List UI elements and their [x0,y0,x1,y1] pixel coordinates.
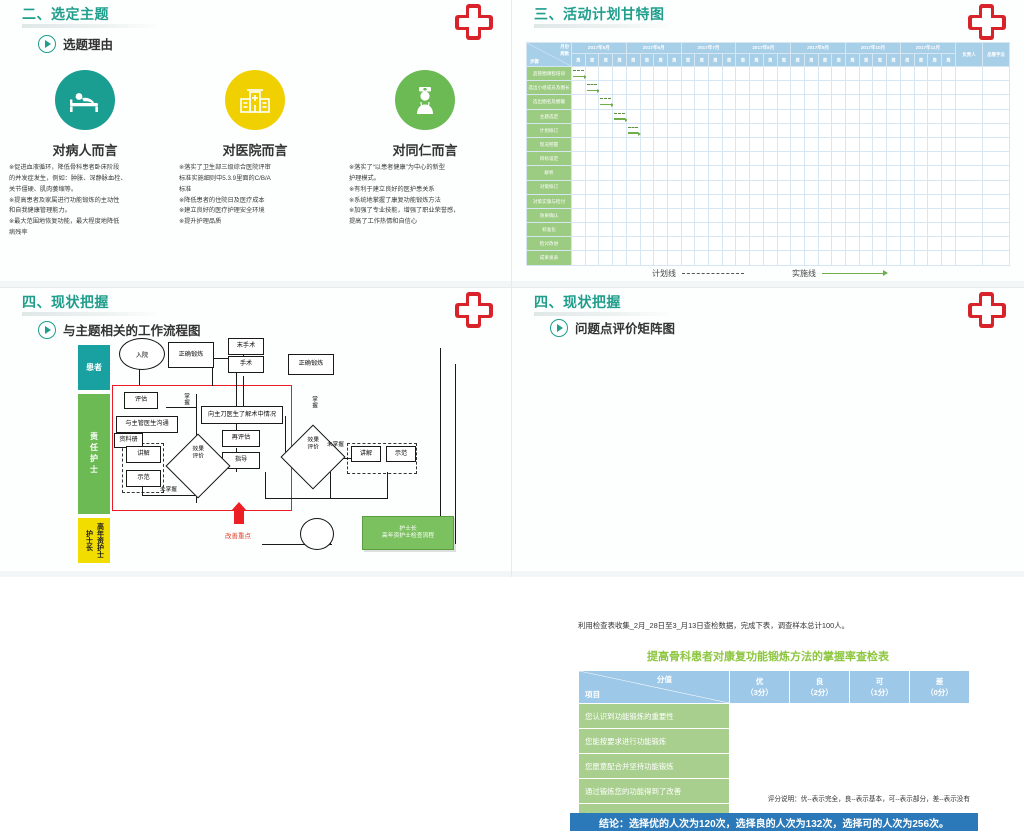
gantt-cell [736,109,750,123]
gantt-cell [585,223,599,237]
gantt-col-负责人: 负责人 [956,43,983,67]
gantt-cell [572,251,586,265]
gantt-cell [681,208,695,222]
gantt-cell [763,223,777,237]
gantt-week-header: 周 [818,54,832,67]
gantt-row: 成果发表 [527,251,1010,265]
gantt-cell [941,123,955,137]
matrix-cell[interactable] [850,704,910,729]
matrix-header-可: 可（1分） [850,671,910,704]
gantt-cell [736,67,750,81]
gantt-row: 目标设定 [527,152,1010,166]
gantt-cell [818,67,832,81]
gantt-week-header: 周 [887,54,901,67]
gantt-month-header: 2017年7月 [681,43,736,54]
gantt-cell [804,137,818,151]
gantt-cell [709,123,723,137]
gantt-legend: 计划线 实施线 [512,268,1024,279]
gantt-cell [640,123,654,137]
gantt-cell [777,123,791,137]
gantt-cell [900,223,914,237]
gantt-cell [750,180,764,194]
hospital-icon [225,70,285,130]
play-icon [38,35,56,53]
gantt-cell [585,81,599,95]
gantt-cell [654,81,668,95]
gantt-cell [887,123,901,137]
gantt-cell [914,180,928,194]
gantt-cell [941,223,955,237]
gantt-cell [709,81,723,95]
gantt-cell [626,152,640,166]
gantt-cell [873,251,887,265]
gantt-week-header: 周 [859,54,873,67]
gantt-cell [791,67,805,81]
slide-gantt: 三、活动计划甘特图 月份周数步骤2017年5月2017年6月2017年7月201… [512,0,1024,288]
gantt-cell [599,194,613,208]
nurse-icon [395,70,455,130]
gantt-cell [599,67,613,81]
matrix-subtitle: 利用检查表收集_2月_28日至3_月13日查检数据，完成下表，调查样本总计100… [578,620,849,631]
gantt-cell [777,137,791,151]
gantt-cell [941,251,955,265]
gantt-cell [791,95,805,109]
gantt-cell [859,237,873,251]
gantt-cell [640,109,654,123]
gantt-cell [585,137,599,151]
gantt-cell [941,95,955,109]
matrix-cell[interactable] [910,754,970,779]
gantt-cell [695,194,709,208]
gantt-cell [722,123,736,137]
gantt-cell [791,251,805,265]
gantt-method-cell [983,81,1010,95]
gantt-cell [941,180,955,194]
gantt-cell [736,152,750,166]
gantt-step-label: 检讨改进 [527,237,572,251]
gantt-cell [626,95,640,109]
gantt-cell [887,251,901,265]
gantt-cell [763,109,777,123]
gantt-row: 检讨改进 [527,237,1010,251]
gantt-cell [900,109,914,123]
gantt-cell [654,251,668,265]
gantt-cell [928,223,942,237]
bullet-reason: 选题理由 [38,34,113,53]
gantt-cell [613,180,627,194]
matrix-header-差: 差（0分） [910,671,970,704]
gantt-cell [887,223,901,237]
matrix-cell[interactable] [730,729,790,754]
gantt-month-header: 2017年6月 [626,43,681,54]
gantt-cell [804,81,818,95]
label-not-grasp-2: 未掌握 [327,440,344,448]
matrix-row: 您能按要求进行功能锻炼 [579,729,970,754]
gantt-cell [750,152,764,166]
gantt-month-header: 2017年9月 [791,43,846,54]
gantt-cell [818,81,832,95]
gantt-week-header: 周 [667,54,681,67]
matrix-cell[interactable] [850,754,910,779]
matrix-cell[interactable] [790,704,850,729]
gantt-step-label: 标准化 [527,223,572,237]
gantt-cell [736,194,750,208]
gantt-cell [613,81,627,95]
gantt-cell [928,194,942,208]
matrix-conclusion: 结论：选择优的人次为120次，选择良的人次为132次，选择可的人次为256次。 [570,813,978,831]
gantt-cell [859,67,873,81]
matrix-cell[interactable] [790,729,850,754]
gantt-cell [736,81,750,95]
gantt-cell [859,123,873,137]
gantt-cell [613,223,627,237]
gantt-cell [722,137,736,151]
gantt-cell [572,237,586,251]
gantt-cell [695,137,709,151]
gantt-step-label: 解析 [527,166,572,180]
gantt-cell [941,67,955,81]
gantt-cell [791,109,805,123]
gantt-cell [681,123,695,137]
gantt-cell [585,194,599,208]
gantt-cell [763,137,777,151]
gantt-cell [750,208,764,222]
gantt-cell [914,223,928,237]
gantt-cell [640,180,654,194]
gantt-cell [722,109,736,123]
gantt-cell [585,237,599,251]
gantt-cell [695,166,709,180]
connector [440,348,441,544]
gantt-cell [626,67,640,81]
gantt-cell [832,81,846,95]
reason-column-colleague: 对同仁而言 ※落实了“以患者健康”为中心的新型 护理模式。 ※有利于建立良好的医… [340,70,510,239]
gantt-method-cell [983,152,1010,166]
gantt-cell [626,81,640,95]
gantt-cell [681,194,695,208]
gantt-month-header: 2017年5月 [572,43,627,54]
gantt-cell [941,109,955,123]
gantt-cell [750,223,764,237]
gantt-cell [695,208,709,222]
gantt-cell [599,223,613,237]
connector [262,544,263,545]
gantt-cell [873,123,887,137]
gantt-cell [654,208,668,222]
gantt-cell [804,109,818,123]
gantt-cell [654,67,668,81]
gantt-cell [640,251,654,265]
column-heading: 对医院而言 [222,140,287,159]
gantt-cell [804,251,818,265]
gantt-cell [763,237,777,251]
gantt-cell [585,123,599,137]
gantt-owner-cell [956,123,983,137]
solid-arrow-swatch [822,273,884,275]
gantt-cell [914,81,928,95]
gantt-month-header: 2017年11月 [900,43,955,54]
gantt-cell [722,152,736,166]
gantt-cell [599,166,613,180]
gantt-cell [736,123,750,137]
gantt-cell [654,223,668,237]
gantt-cell [846,67,860,81]
gantt-cell [846,180,860,194]
gantt-cell [900,237,914,251]
lane-head-nurse: 护士长高年资护士 [78,518,110,563]
node-admission: 入院 [119,338,165,370]
gantt-cell [900,95,914,109]
gantt-week-header: 周 [928,54,942,67]
gantt-cell [626,123,640,137]
gantt-row: 对策实施与检讨 [527,194,1010,208]
gantt-cell [846,109,860,123]
gantt-cell [928,123,942,137]
gantt-cell [777,152,791,166]
gantt-cell [846,137,860,151]
gantt-cell [859,81,873,95]
gantt-cell [777,223,791,237]
gantt-cell [818,180,832,194]
gantt-cell [599,95,613,109]
gantt-cell [613,123,627,137]
gantt-cell [900,251,914,265]
gantt-cell [804,123,818,137]
gantt-cell [846,208,860,222]
gantt-cell [709,166,723,180]
gantt-method-cell [983,123,1010,137]
gantt-col-品管手法: 品管手法 [983,43,1010,67]
gantt-cell [846,95,860,109]
gantt-cell [626,137,640,151]
matrix-cell[interactable] [730,754,790,779]
gantt-step-label: 对策实施与检讨 [527,194,572,208]
matrix-cell[interactable] [910,729,970,754]
matrix-corner: 分值项目 [579,671,730,704]
gantt-cell [832,166,846,180]
gantt-cell [859,208,873,222]
gantt-cell [887,95,901,109]
gantt-cell [667,137,681,151]
gantt-cell [695,223,709,237]
gantt-cell [804,237,818,251]
reason-columns: 对病人而言 ※促进血液循环，降低骨科患者卧床阶段 的并发症发生，例如：肿胀、深静… [0,70,512,239]
gantt-cell [654,95,668,109]
gantt-cell [750,67,764,81]
gantt-cell [681,81,695,95]
gantt-cell [818,251,832,265]
gantt-cell [873,109,887,123]
matrix-header-优: 优（3分） [730,671,790,704]
gantt-cell [887,208,901,222]
gantt-week-header: 周 [681,54,695,67]
gantt-cell [914,237,928,251]
matrix-cell[interactable] [730,704,790,729]
gantt-week-header: 周 [763,54,777,67]
gantt-cell [681,152,695,166]
gantt-cell [572,67,586,81]
focus-arrow-head [231,502,247,511]
gantt-method-cell [983,109,1010,123]
gantt-cell [640,67,654,81]
gantt-owner-cell [956,137,983,151]
legend-plan-label: 计划线 [652,268,676,279]
connector [387,472,388,498]
gantt-cell [667,123,681,137]
gantt-cell [914,137,928,151]
gantt-cell [832,208,846,222]
gantt-cell [818,237,832,251]
gantt-cell [654,237,668,251]
gantt-row: 计划拟订 [527,123,1010,137]
gantt-row: 主题选定 [527,109,1010,123]
gantt-cell [613,194,627,208]
gantt-cell [914,109,928,123]
gantt-cell [873,208,887,222]
gantt-step-label: 主题选定 [527,109,572,123]
gantt-cell [928,208,942,222]
gantt-cell [832,223,846,237]
bullet-label: 选题理由 [63,34,113,53]
gantt-method-cell [983,180,1010,194]
gantt-cell [709,194,723,208]
gantt-cell [791,123,805,137]
matrix-cell[interactable] [910,704,970,729]
gantt-cell [763,152,777,166]
gantt-method-cell [983,208,1010,222]
gantt-cell [832,109,846,123]
gantt-cell [818,194,832,208]
gantt-cell [654,180,668,194]
gantt-bar [573,70,584,77]
matrix-cell[interactable] [850,729,910,754]
connector [330,472,331,498]
gantt-cell [914,194,928,208]
gantt-week-header: 周 [640,54,654,67]
gantt-week-header: 周 [613,54,627,67]
gantt-week-header: 周 [722,54,736,67]
gantt-cell [626,180,640,194]
gantt-cell [585,251,599,265]
gantt-owner-cell [956,152,983,166]
gantt-cell [709,152,723,166]
dashed-line-swatch [682,273,744,274]
gantt-cell [599,81,613,95]
gantt-step-label: 选出圈名及圈徽 [527,95,572,109]
connector [285,416,286,452]
gantt-owner-cell [956,208,983,222]
gantt-cell [818,152,832,166]
gantt-step-label: 效果确认 [527,208,572,222]
connector [243,376,244,406]
connector [265,472,266,498]
label-grasp-1: 掌握 [182,393,190,406]
gantt-cell [887,67,901,81]
gantt-method-cell [983,223,1010,237]
gantt-cell [763,67,777,81]
gantt-cell [804,67,818,81]
gantt-step-label: 现况把握 [527,137,572,151]
node-demo-2: 示范 [386,446,416,462]
gantt-cell [709,137,723,151]
matrix-header-良: 良（2分） [790,671,850,704]
gantt-cell [859,251,873,265]
title-underline [22,24,162,28]
gantt-cell [709,180,723,194]
gantt-cell [859,166,873,180]
gantt-cell [572,137,586,151]
gantt-cell [709,67,723,81]
matrix-row: 您愿意配合并坚持功能锻炼 [579,754,970,779]
label-not-grasp-1: 未掌握 [160,485,177,493]
gantt-row: 现况把握 [527,137,1010,151]
gantt-cell [750,81,764,95]
gantt-cell [572,208,586,222]
gantt-cell [941,81,955,95]
gantt-cell [818,208,832,222]
gantt-cell [681,166,695,180]
gantt-cell [791,180,805,194]
slide-selected-theme: 二、选定主题 选题理由 对病人而 [0,0,512,288]
gantt-week-header: 周 [695,54,709,67]
matrix-row-label: 您认识到功能锻炼的重要性 [579,704,730,729]
gantt-step-label: 成果发表 [527,251,572,265]
gantt-cell [887,137,901,151]
gantt-cell [846,81,860,95]
gantt-week-header: 周 [900,54,914,67]
gantt-cell [695,95,709,109]
gantt-cell [791,137,805,151]
gantt-cell [654,166,668,180]
gantt-cell [654,152,668,166]
gantt-cell [914,152,928,166]
gantt-row: 效果确认 [527,208,1010,222]
gantt-cell [859,180,873,194]
gantt-step-label: 对策拟订 [527,180,572,194]
focus-label: 改善重点 [225,530,251,540]
matrix-cell[interactable] [790,754,850,779]
gantt-cell [846,251,860,265]
gantt-bar [587,84,598,91]
gantt-cell [599,180,613,194]
gantt-cell [873,95,887,109]
gantt-cell [873,194,887,208]
gantt-cell [572,166,586,180]
gantt-cell [873,223,887,237]
gantt-week-header: 周 [873,54,887,67]
gantt-cell [599,251,613,265]
column-body: ※促进血液循环，降低骨科患者卧床阶段 的并发症发生，例如：肿胀、深静脉血栓、 关… [9,163,161,239]
gantt-table: 月份周数步骤2017年5月2017年6月2017年7月2017年8月2017年9… [526,42,1010,266]
gantt-cell [791,166,805,180]
reason-column-hospital: 对医院而言 ※落实了卫生部三级综合医院评审 标准实施细则中5.3.9里面的C/B… [170,70,340,239]
gantt-cell [818,123,832,137]
gantt-cell [928,137,942,151]
gantt-step-label: 计划拟订 [527,123,572,137]
connector [166,407,196,408]
gantt-cell [900,137,914,151]
gantt-cell [572,109,586,123]
gantt-owner-cell [956,223,983,237]
gantt-cell [763,251,777,265]
gantt-cell [572,223,586,237]
gantt-cell [846,166,860,180]
gantt-cell [736,208,750,222]
gantt-cell [928,67,942,81]
gantt-week-header: 周 [846,54,860,67]
gantt-cell [695,152,709,166]
gantt-cell [722,95,736,109]
